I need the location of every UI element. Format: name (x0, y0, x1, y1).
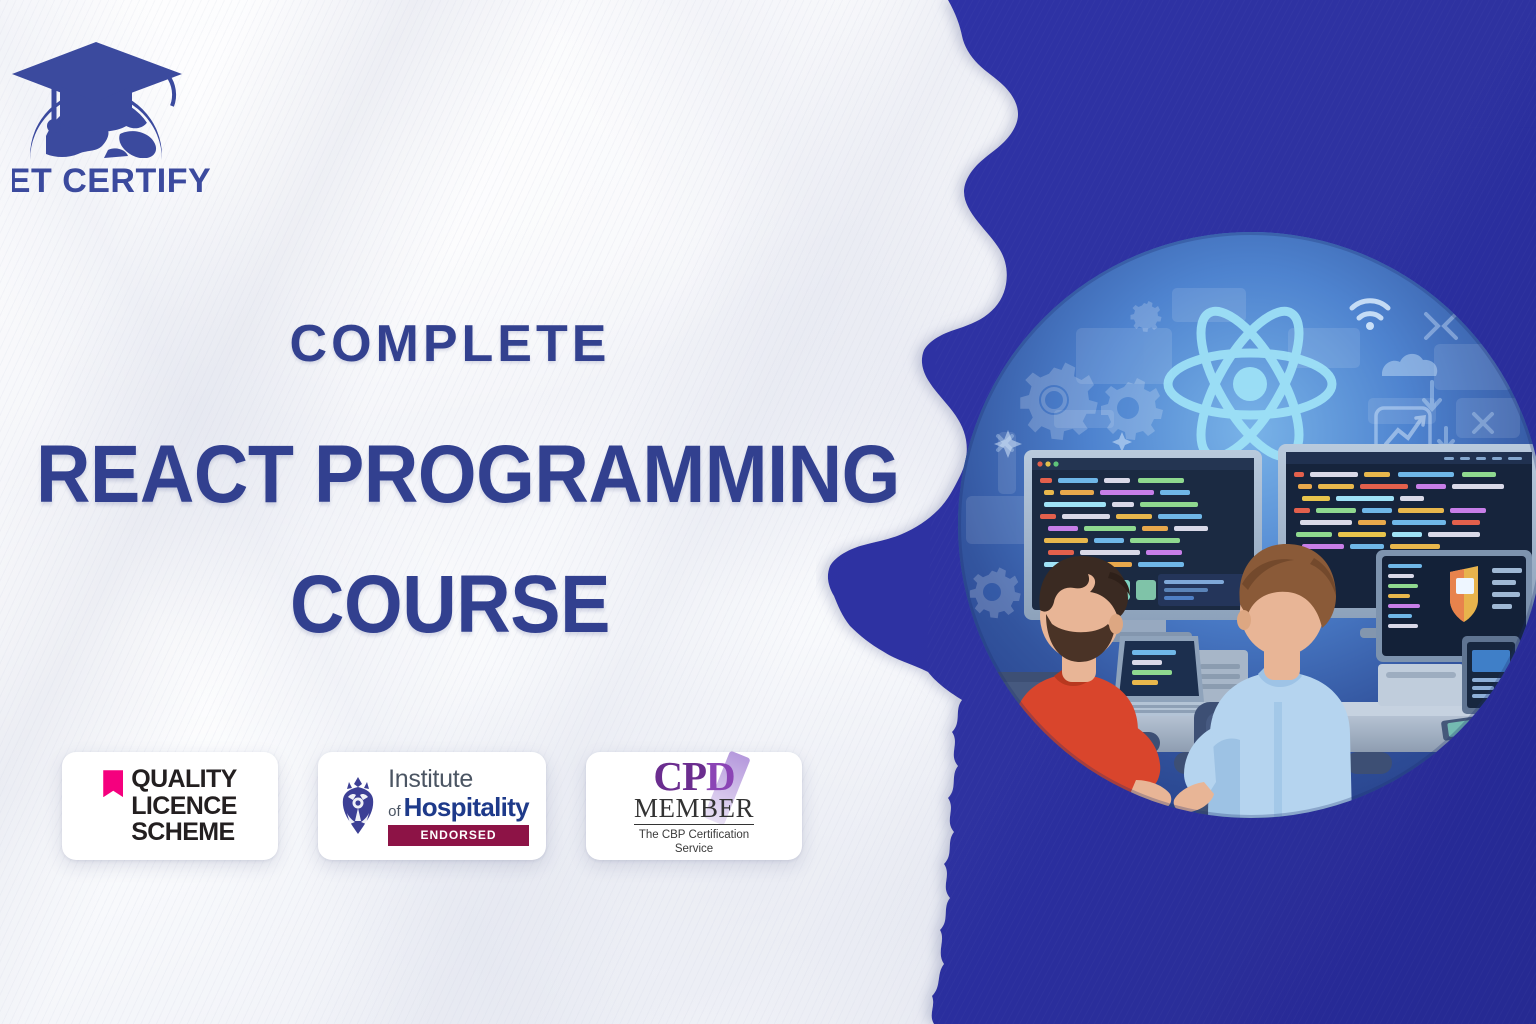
course-poster: GET CERTIFY COMPLETE REACT PROGRAMMING C… (0, 0, 1536, 1024)
title-line-1: REACT PROGRAMMING (36, 432, 864, 518)
badge-institute-of-hospitality[interactable]: Institute of Hospitality ENDORSED (318, 752, 546, 860)
qls-line-2: LICENCE (131, 793, 237, 820)
logo-wordmark: GET CERTIFY (12, 162, 211, 200)
ioh-endorsed-banner: ENDORSED (388, 825, 529, 846)
cpd-subtitle: The CBP Certification Service (634, 828, 754, 856)
title-line-2: COURSE (36, 562, 864, 648)
accreditation-badges: QUALITY LICENCE SCHEME (62, 752, 802, 860)
cpd-member-word: MEMBER (634, 795, 754, 825)
cpd-subtitle-line-2: Service (634, 842, 754, 856)
ioh-word-of: of (388, 803, 401, 820)
bookmark-icon (103, 770, 123, 797)
badge-cpd-member[interactable]: CPD MEMBER The CBP Certification Service (586, 752, 802, 860)
qls-line-1: QUALITY (131, 766, 237, 793)
cpd-letter-d: D (706, 753, 735, 799)
ioh-line-institute: Institute (388, 767, 529, 792)
cpd-letters: CPD (634, 758, 754, 796)
qls-wordmark: QUALITY LICENCE SCHEME (131, 766, 237, 846)
heraldic-crest-icon (335, 775, 381, 837)
qls-line-3: SCHEME (131, 819, 237, 846)
react-developers-illustration (958, 232, 1536, 818)
eyebrow-text: COMPLETE (0, 318, 900, 370)
brand-logo[interactable]: GET CERTIFY (12, 26, 212, 206)
badge-quality-licence-scheme[interactable]: QUALITY LICENCE SCHEME (62, 752, 278, 860)
ioh-word-hospitality: Hospitality (404, 794, 529, 820)
cpd-letters-cp: CP (653, 753, 706, 799)
cpd-subtitle-line-1: The CBP Certification (634, 828, 754, 842)
headline-block: COMPLETE REACT PROGRAMMING COURSE (0, 318, 900, 648)
